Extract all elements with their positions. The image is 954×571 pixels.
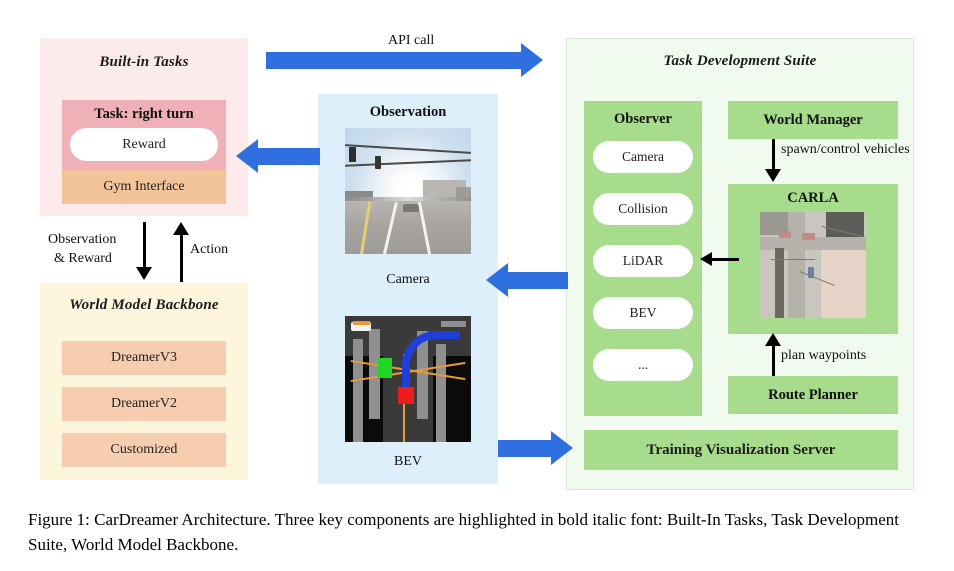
task-label: Task: right turn xyxy=(62,100,226,123)
carla-pink-building xyxy=(821,242,866,318)
observation-reward-arrow-shaft xyxy=(143,222,146,270)
observation-to-tasks-shaft xyxy=(258,148,320,165)
camera-traffic-light-2-icon xyxy=(375,156,381,169)
action-label: Action xyxy=(190,242,228,258)
suite-to-observation-shaft xyxy=(508,272,568,289)
gym-interface-box: Gym Interface xyxy=(62,170,226,204)
bev-green-marker xyxy=(378,358,392,378)
spawn-control-arrow-shaft xyxy=(772,139,775,171)
bev-sidewalk-1 xyxy=(353,339,363,442)
task-suite-title: Task Development Suite xyxy=(567,53,913,70)
carla-detail-line-1 xyxy=(771,259,816,260)
observer-item-collision[interactable]: Collision xyxy=(593,193,693,225)
builtin-tasks-title: Built-in Tasks xyxy=(40,54,248,71)
action-arrow-head xyxy=(173,222,189,235)
observer-box: Observer Camera Collision LiDAR BEV ... xyxy=(584,101,702,416)
carla-vehicle-1 xyxy=(779,231,791,238)
route-planner-box: Route Planner xyxy=(728,376,898,414)
world-manager-box: World Manager xyxy=(728,101,898,139)
training-visualization-server-box: Training Visualization Server xyxy=(584,430,898,470)
carla-to-observer-arrow-shaft xyxy=(711,258,739,261)
carla-title: CARLA xyxy=(728,184,898,207)
camera-image xyxy=(345,128,471,254)
spawn-control-arrow-head xyxy=(765,169,781,182)
camera-traffic-light-icon xyxy=(349,147,356,162)
plan-waypoints-label: plan waypoints xyxy=(781,348,866,364)
observation-reward-label-line2: & Reward xyxy=(54,251,112,267)
bev-image xyxy=(345,316,471,442)
observer-item-camera[interactable]: Camera xyxy=(593,141,693,173)
bev-ego-vehicle xyxy=(398,387,414,405)
camera-lead-vehicle xyxy=(403,204,419,213)
figure-caption: Figure 1: CarDreamer Architecture. Three… xyxy=(28,508,928,557)
world-model-item-customized: Customized xyxy=(62,433,226,467)
observer-item-bev[interactable]: BEV xyxy=(593,297,693,329)
observation-to-tvs-head xyxy=(551,431,573,465)
camera-caption: Camera xyxy=(318,272,498,288)
api-call-label: API call xyxy=(388,33,434,49)
bev-sidewalk-5 xyxy=(441,321,466,327)
world-model-backbone-panel: World Model Backbone DreamerV3 DreamerV2… xyxy=(40,283,248,480)
world-model-item-dreamerv3: DreamerV3 xyxy=(62,341,226,375)
spawn-control-label: spawn/control vehicles xyxy=(781,142,910,158)
api-call-arrow-shaft xyxy=(266,52,522,69)
observer-item-lidar[interactable]: LiDAR xyxy=(593,245,693,277)
carla-road-vertical xyxy=(788,212,805,318)
reward-pill: Reward xyxy=(70,128,218,161)
observation-panel: Observation Camera BEV xyxy=(318,94,498,484)
task-box: Task: right turn Reward xyxy=(62,100,226,170)
task-development-suite-panel: Task Development Suite Observer Camera C… xyxy=(566,38,914,490)
carla-to-observer-arrow-head xyxy=(700,252,712,266)
observation-title: Observation xyxy=(318,104,498,121)
api-call-arrow-head xyxy=(521,43,543,77)
carla-simulator-image xyxy=(760,212,866,318)
carla-box: CARLA xyxy=(728,184,898,334)
world-model-title: World Model Backbone xyxy=(40,297,248,314)
carla-vehicle-2 xyxy=(802,233,815,239)
plan-waypoints-arrow-head xyxy=(765,333,781,346)
builtin-tasks-panel: Built-in Tasks Task: right turn Reward G… xyxy=(40,38,248,216)
bev-lane-line-4 xyxy=(353,321,371,325)
plan-waypoints-arrow-shaft xyxy=(772,344,775,376)
observation-reward-label-line1: Observation xyxy=(48,232,116,248)
world-model-item-dreamerv2: DreamerV2 xyxy=(62,387,226,421)
observer-item-more[interactable]: ... xyxy=(593,349,693,381)
observation-to-tasks-head xyxy=(236,139,258,173)
bev-caption: BEV xyxy=(318,454,498,470)
observation-reward-arrow-head xyxy=(136,267,152,280)
suite-to-observation-head xyxy=(486,263,508,297)
action-arrow-shaft xyxy=(180,234,183,282)
observation-to-tvs-shaft xyxy=(498,440,552,457)
observer-title: Observer xyxy=(584,101,702,128)
